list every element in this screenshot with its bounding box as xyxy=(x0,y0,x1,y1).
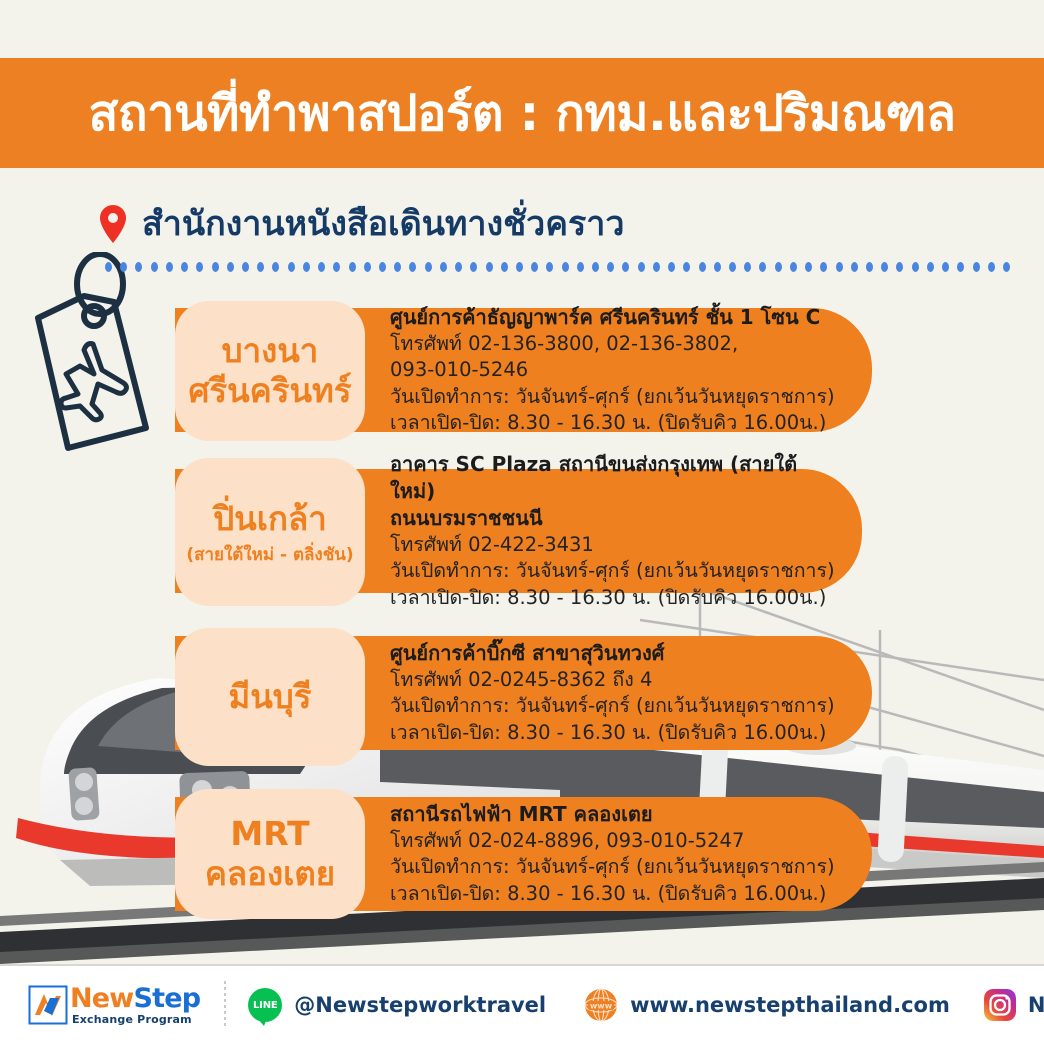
divider-dot xyxy=(318,262,325,272)
luggage-tag-airplane-icon xyxy=(28,252,188,452)
divider-dot xyxy=(622,262,629,272)
divider-dot xyxy=(181,262,188,272)
divider-dot xyxy=(805,262,812,272)
divider-dot xyxy=(364,262,371,272)
globe-www-icon: www xyxy=(584,988,618,1022)
location-detail-line: โทรศัพท์ 02-136-3800, 02-136-3802, xyxy=(390,331,848,357)
divider-dot xyxy=(881,262,888,272)
divider-dot xyxy=(105,262,112,272)
location-venue-title: อาคาร SC Plaza สถานีขนส่งกรุงเทพ (สายใต้… xyxy=(390,451,838,532)
location-name-secondary: (สายใต้ใหม่ - ตลิ่งชัน) xyxy=(186,545,353,565)
divider-dot xyxy=(425,262,432,272)
divider-dot xyxy=(379,262,386,272)
divider-dot xyxy=(866,262,873,272)
divider-dot xyxy=(790,262,797,272)
divider-dot xyxy=(303,262,310,272)
footer-vertical-divider xyxy=(224,981,226,1029)
divider-dot xyxy=(227,262,234,272)
divider-dot xyxy=(470,262,477,272)
footer-line-item[interactable]: LINE @Newstepworktravel xyxy=(248,988,546,1022)
location-name-badge: มีนบุรี xyxy=(175,628,365,766)
divider-dot xyxy=(836,262,843,272)
dotted-divider xyxy=(105,262,1003,272)
divider-dot xyxy=(440,262,447,272)
svg-text:www: www xyxy=(590,1001,613,1010)
divider-dot xyxy=(683,262,690,272)
location-detail-line: วันเปิดทำการ: วันจันทร์-ศุกร์ (ยกเว้นวัน… xyxy=(390,693,848,719)
divider-dot xyxy=(653,262,660,272)
divider-dot xyxy=(744,262,751,272)
divider-dot xyxy=(607,262,614,272)
line-icon-label: LINE xyxy=(253,1000,278,1011)
divider-dot xyxy=(851,262,858,272)
divider-dot xyxy=(775,262,782,272)
newstep-logo-mark xyxy=(28,985,68,1025)
location-detail-line: เวลาเปิด-ปิด: 8.30 - 16.30 น. (ปิดรับคิว… xyxy=(390,720,848,746)
location-detail-line: เวลาเปิด-ปิด: 8.30 - 16.30 น. (ปิดรับคิว… xyxy=(390,881,848,907)
divider-dot xyxy=(455,262,462,272)
location-name-badge: ปิ่นเกล้า(สายใต้ใหม่ - ตลิ่งชัน) xyxy=(175,458,365,606)
divider-dot xyxy=(638,262,645,272)
location-detail-line: โทรศัพท์ 02-024-8896, 093-010-5247 xyxy=(390,828,848,854)
divider-dot xyxy=(729,262,736,272)
location-detail-line: วันเปิดทำการ: วันจันทร์-ศุกร์ (ยกเว้นวัน… xyxy=(390,384,848,410)
divider-dot xyxy=(820,262,827,272)
divider-dot xyxy=(501,262,508,272)
divider-dot xyxy=(562,262,569,272)
footer-website-item[interactable]: www www.newstepthailand.com xyxy=(546,988,950,1022)
location-detail-line: วันเปิดทำการ: วันจันทร์-ศุกร์ (ยกเว้นวัน… xyxy=(390,854,848,880)
location-name-primary: มีนบุรี xyxy=(229,677,312,717)
divider-dot xyxy=(242,262,249,272)
instagram-handle[interactable]: Newstepthailand xyxy=(1028,993,1044,1017)
footer-instagram-item[interactable]: Newstepthailand xyxy=(950,989,1044,1021)
logo-word-step: Step xyxy=(133,983,200,1014)
divider-dot xyxy=(257,262,264,272)
divider-dot xyxy=(896,262,903,272)
location-venue-title: สถานีรถไฟฟ้า MRT คลองเตย xyxy=(390,801,848,828)
divider-dot xyxy=(699,262,706,272)
location-pin-icon xyxy=(100,205,126,243)
section-subtitle: สำนักงานหนังสือเดินทางชั่วคราว xyxy=(100,205,624,243)
divider-dot xyxy=(349,262,356,272)
location-detail-line: โทรศัพท์ 02-0245-8362 ถึง 4 xyxy=(390,667,848,693)
location-name-primary: บางนา ศรีนครินทร์ xyxy=(188,331,351,412)
divider-dot xyxy=(973,262,980,272)
divider-dot xyxy=(151,262,158,272)
logo-word-new: New xyxy=(70,983,133,1014)
website-url[interactable]: www.newstepthailand.com xyxy=(630,993,950,1017)
location-venue-title: ศูนย์การค้าบิ๊กซี สาขาสุวินทวงศ์ xyxy=(390,640,848,667)
divider-dot xyxy=(333,262,340,272)
divider-dot xyxy=(592,262,599,272)
line-icon: LINE xyxy=(248,988,282,1022)
divider-dot xyxy=(912,262,919,272)
divider-dot xyxy=(546,262,553,272)
footer-bar: NewStep Exchange Program LINE @Newstepwo… xyxy=(0,966,1044,1044)
location-venue-title: ศูนย์การค้าธัญญาพาร์ค ศรีนครินทร์ ชั้น 1… xyxy=(390,304,848,331)
infographic-page: สถานที่ทำพาสปอร์ต : กทม.และปริมณฑล สำนัก… xyxy=(0,0,1044,1044)
divider-dot xyxy=(212,262,219,272)
divider-dot xyxy=(988,262,995,272)
location-name-badge: บางนา ศรีนครินทร์ xyxy=(175,301,365,441)
divider-dot xyxy=(288,262,295,272)
divider-dot xyxy=(531,262,538,272)
divider-dot xyxy=(942,262,949,272)
location-detail-line: โทรศัพท์ 02-422-3431 xyxy=(390,532,838,558)
instagram-icon xyxy=(984,989,1016,1021)
divider-dot xyxy=(394,262,401,272)
subtitle-label: สำนักงานหนังสือเดินทางชั่วคราว xyxy=(142,207,624,241)
logo-wordmark: NewStep xyxy=(70,985,200,1012)
location-detail-line: เวลาเปิด-ปิด: 8.30 - 16.30 น. (ปิดรับคิว… xyxy=(390,410,848,436)
newstep-logo[interactable]: NewStep Exchange Program xyxy=(28,985,200,1025)
logo-tagline: Exchange Program xyxy=(72,1014,200,1025)
location-detail-line: เวลาเปิด-ปิด: 8.30 - 16.30 น. (ปิดรับคิว… xyxy=(390,585,838,611)
location-name-badge: MRT คลองเตย xyxy=(175,789,365,919)
divider-dot xyxy=(120,262,127,272)
divider-dot xyxy=(166,262,173,272)
divider-dot xyxy=(135,262,142,272)
line-handle[interactable]: @Newstepworktravel xyxy=(294,993,546,1017)
divider-dot xyxy=(714,262,721,272)
location-detail-line: วันเปิดทำการ: วันจันทร์-ศุกร์ (ยกเว้นวัน… xyxy=(390,558,838,584)
divider-dot xyxy=(516,262,523,272)
location-card-list: ศูนย์การค้าธัญญาพาร์ค ศรีนครินทร์ ชั้น 1… xyxy=(0,0,1044,1044)
location-name-primary: MRT คลองเตย xyxy=(205,814,335,895)
divider-dot xyxy=(668,262,675,272)
location-name-primary: ปิ่นเกล้า xyxy=(213,499,327,539)
divider-dot xyxy=(759,262,766,272)
divider-dot xyxy=(409,262,416,272)
location-detail-line: 093-010-5246 xyxy=(390,357,848,383)
divider-dot xyxy=(1003,262,1010,272)
divider-dot xyxy=(196,262,203,272)
divider-dot xyxy=(577,262,584,272)
divider-dot xyxy=(272,262,279,272)
newstep-logo-text: NewStep Exchange Program xyxy=(70,985,200,1025)
divider-dot xyxy=(486,262,493,272)
divider-dot xyxy=(927,262,934,272)
divider-dot xyxy=(957,262,964,272)
